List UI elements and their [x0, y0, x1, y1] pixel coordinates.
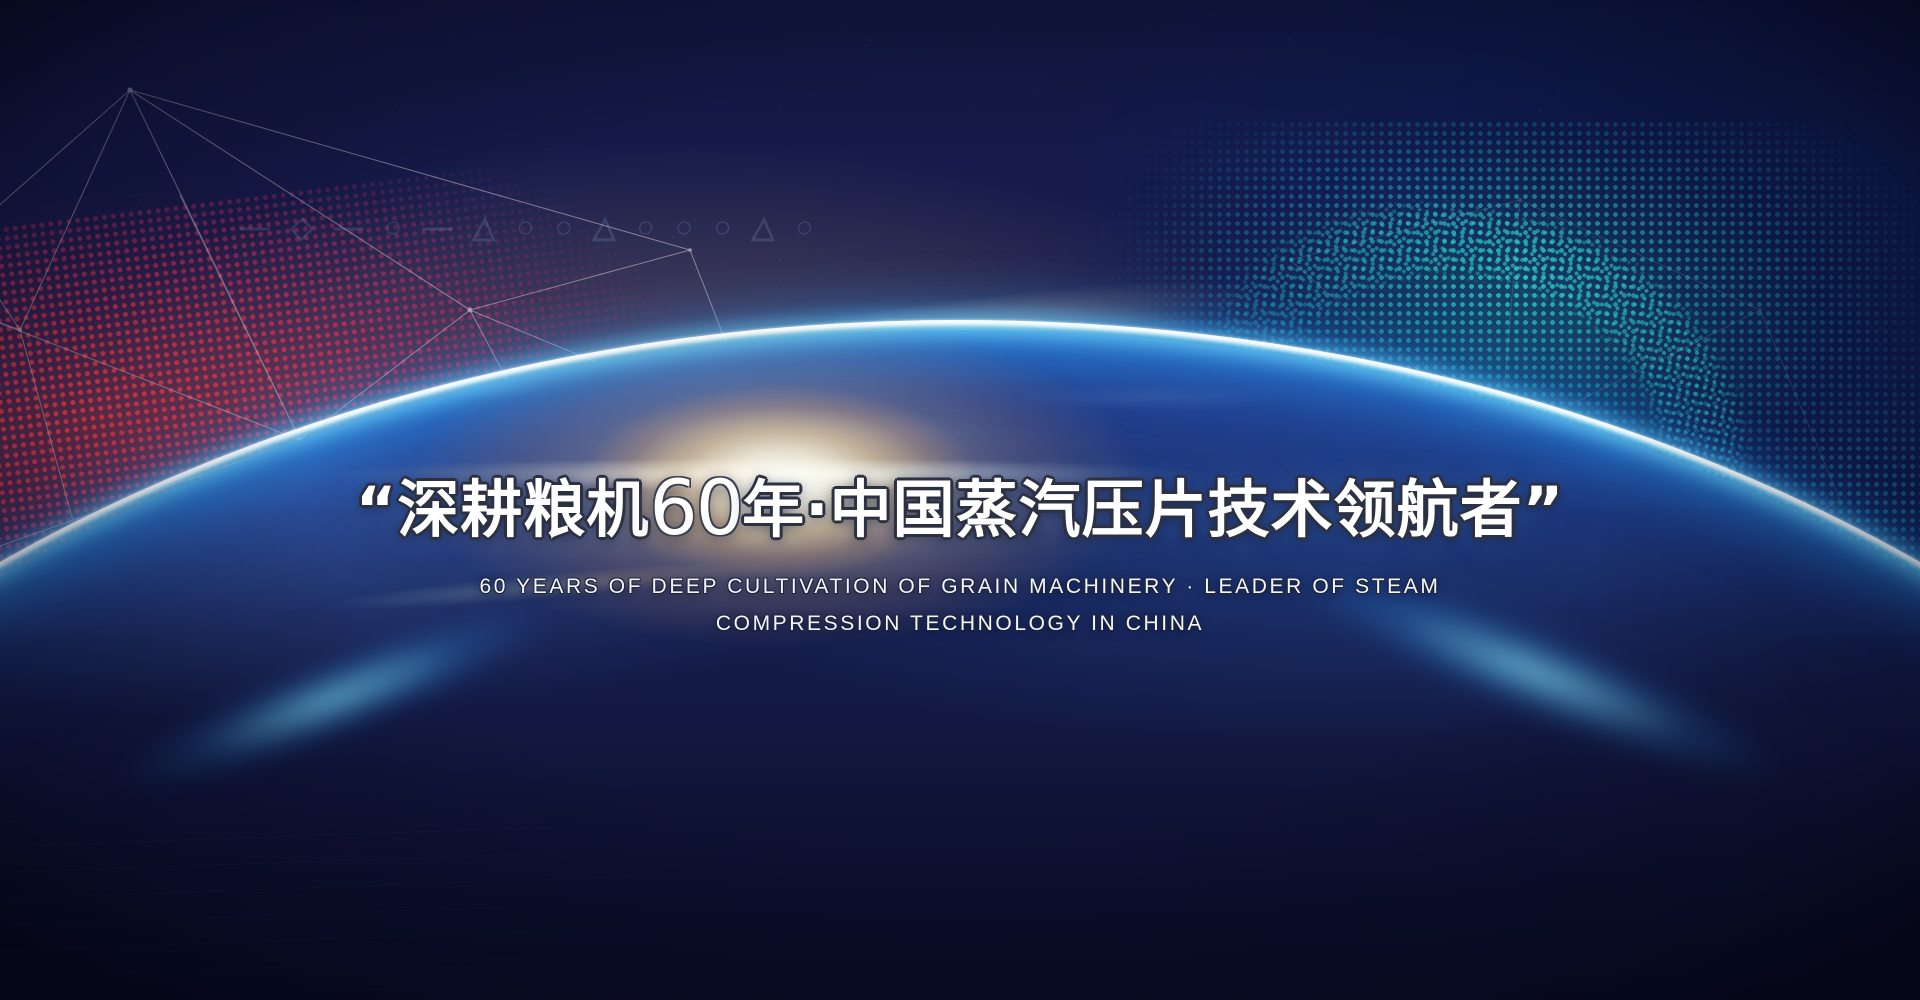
banner-canvas: — ◇ — ○ — △ ○ ○ △ ○ ○ ○ △ ○ [0, 0, 1920, 1000]
scanline-texture [0, 820, 820, 990]
binary-ring-motif-band: — ◇ — ○ — △ ○ ○ △ ○ ○ ○ △ ○ [238, 205, 1761, 251]
teal-wave-crest [1097, 90, 1844, 749]
network-constellation-left [0, 0, 980, 760]
page-title: “深耕粮机60年·中国蒸汽压片技术领航者” [0, 468, 1920, 549]
crimson-wave-glow [0, 127, 848, 753]
earth-cloud-texture [0, 330, 1920, 1000]
title-open-quote: “ [356, 473, 398, 546]
title-part-two: 年·中国蒸汽压片技术领航者 [742, 473, 1523, 546]
crimson-halftone-wave [0, 110, 1010, 790]
code-band-glyphs: — ◇ — ○ — △ ○ ○ △ ○ ○ ○ △ ○ [239, 213, 821, 243]
earth-surface [0, 330, 1920, 1000]
teal-wave-glow [960, 150, 1860, 750]
title-part-one: 深耕粮机 [397, 473, 649, 546]
title-number-60: 60 [649, 463, 742, 552]
earth-atmosphere-glow [0, 320, 1920, 1000]
subtitle-line-2: COMPRESSION TECHNOLOGY IN CHINA [0, 612, 1920, 636]
headline-block: “深耕粮机60年·中国蒸汽压片技术领航者” 60 YEARS OF DEEP C… [0, 468, 1920, 636]
title-close-quote: ” [1523, 473, 1565, 546]
earth-limb-highlight [0, 320, 1920, 1000]
subtitle-line-1: 60 YEARS OF DEEP CULTIVATION OF GRAIN MA… [0, 575, 1920, 599]
